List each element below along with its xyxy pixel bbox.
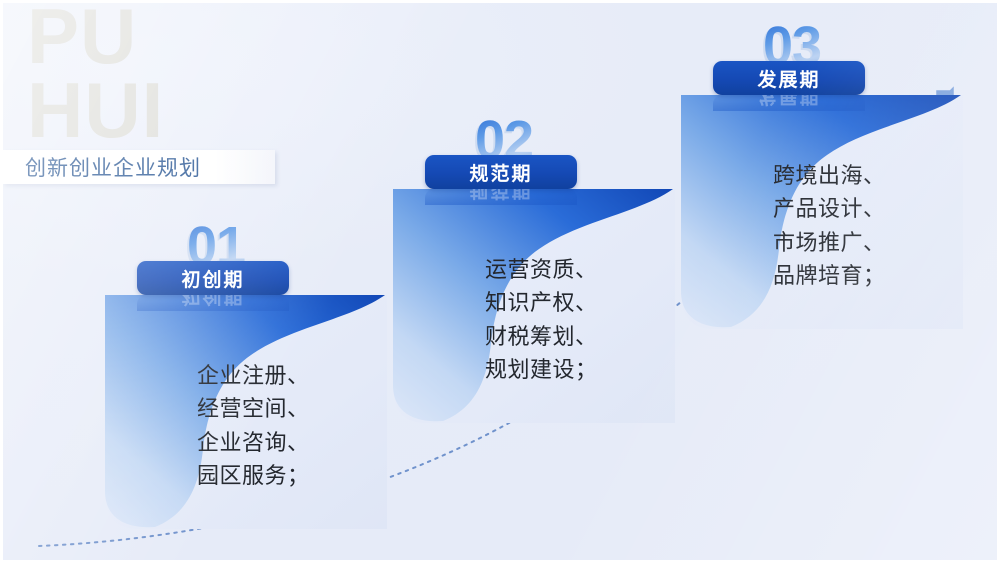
- step-badge-reflection-label-03: 发展期: [757, 95, 820, 111]
- watermark-line-1: PU: [27, 0, 164, 73]
- step-item: 企业咨询、: [197, 426, 310, 459]
- step-badge-reflection-01: 初创期: [137, 295, 289, 311]
- step-badge-label-03: 发展期: [757, 65, 820, 92]
- step-badge-reflection-02: 规范期: [425, 189, 577, 205]
- step-item: 运营资质、: [485, 253, 598, 286]
- step-badge-reflection-label-01: 初创期: [181, 295, 244, 311]
- step-item: 企业注册、: [197, 359, 310, 392]
- page-title: 创新创业企业规划: [25, 152, 201, 182]
- slide-canvas: PU HUI 创新创业企业规划 01 01: [0, 0, 1000, 563]
- watermark-line-2: HUI: [27, 73, 164, 147]
- step-item: 产品设计、: [773, 192, 886, 225]
- step-items-03: 跨境出海、 产品设计、 市场推广、 品牌培育；: [773, 159, 886, 293]
- brand-watermark: PU HUI: [27, 0, 164, 147]
- step-item: 规划建设；: [485, 353, 598, 386]
- step-badge-02[interactable]: 规范期: [425, 155, 577, 189]
- step-badge-label-01: 初创期: [181, 265, 244, 292]
- step-card-02[interactable]: 02 02: [389, 103, 679, 425]
- step-badge-01[interactable]: 初创期: [137, 261, 289, 295]
- step-badge-label-02: 规范期: [469, 159, 532, 186]
- step-card-03[interactable]: 03 03: [677, 9, 967, 331]
- step-item: 园区服务；: [197, 459, 310, 492]
- step-badge-03[interactable]: 发展期: [713, 61, 865, 95]
- step-item: 品牌培育；: [773, 259, 886, 292]
- step-items-02: 运营资质、 知识产权、 财税筹划、 规划建设；: [485, 253, 598, 387]
- step-item: 市场推广、: [773, 226, 886, 259]
- step-item: 经营空间、: [197, 392, 310, 425]
- step-badge-reflection-label-02: 规范期: [469, 189, 532, 205]
- slide-title-bar: 创新创业企业规划: [3, 150, 275, 184]
- step-item: 财税筹划、: [485, 320, 598, 353]
- step-item: 知识产权、: [485, 286, 598, 319]
- step-item: 跨境出海、: [773, 159, 886, 192]
- step-items-01: 企业注册、 经营空间、 企业咨询、 园区服务；: [197, 359, 310, 493]
- step-card-01[interactable]: 01 01: [101, 209, 391, 531]
- step-badge-reflection-03: 发展期: [713, 95, 865, 111]
